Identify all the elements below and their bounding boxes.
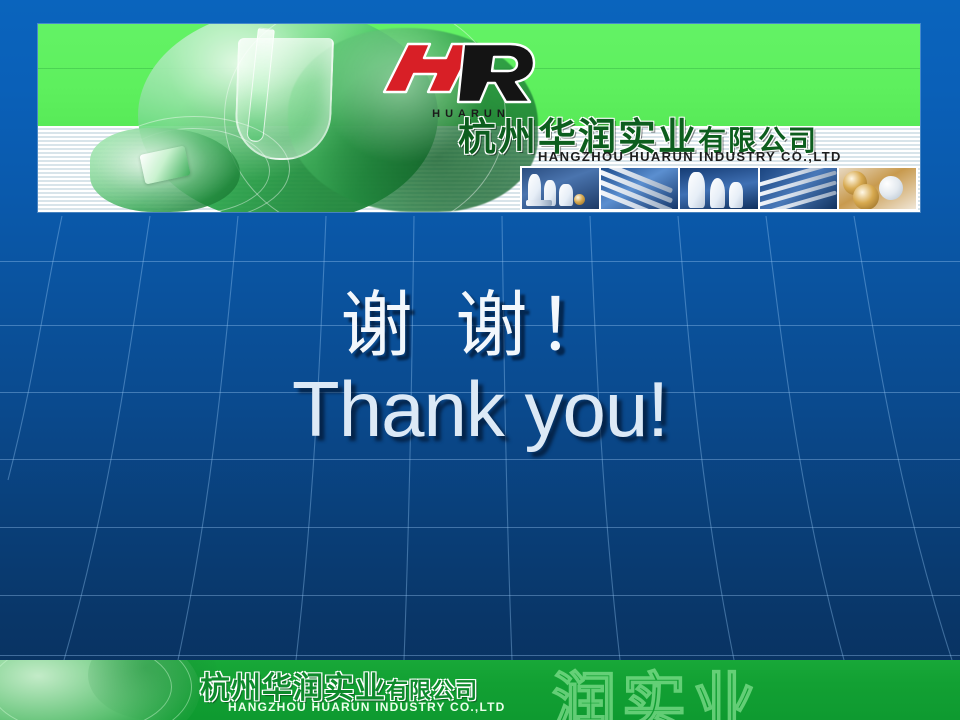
thank-you-chinese: 谢 谢！	[0, 288, 960, 364]
globe-latitude-line	[0, 527, 960, 528]
banner-company-name-en: HANGZHOU HUARUN INDUSTRY CO.,LTD	[538, 149, 842, 164]
product-photo-ampoules	[760, 168, 837, 209]
footer-watermark-text: 润实业	[552, 660, 762, 720]
company-header-banner: HUARUN 杭州华润实业有限公司 HANGZHOU HUARUN INDUST…	[38, 24, 920, 212]
product-photo-strip	[520, 166, 918, 211]
globe-latitude-line	[0, 655, 960, 656]
product-photo-vial-caps	[839, 168, 916, 209]
globe-latitude-line	[0, 459, 960, 460]
footer-decorative-ring	[0, 660, 172, 720]
presentation-slide: HUARUN 杭州华润实业有限公司 HANGZHOU HUARUN INDUST…	[0, 0, 960, 720]
company-footer-bar: 润实业 杭州华润实业有限公司 HANGZHOU HUARUN INDUSTRY …	[0, 660, 960, 720]
thank-you-message: 谢 谢！ Thank you!	[0, 288, 960, 448]
globe-latitude-line	[0, 261, 960, 262]
huarun-hr-logo-icon	[368, 30, 568, 114]
product-photo-syringes	[601, 168, 678, 209]
thank-you-english: Thank you!	[0, 370, 960, 448]
product-photo-bottles	[522, 168, 599, 209]
product-photo-dropper-bottles	[680, 168, 757, 209]
footer-company-name-en: HANGZHOU HUARUN INDUSTRY CO.,LTD	[228, 700, 506, 714]
globe-latitude-line	[0, 595, 960, 596]
